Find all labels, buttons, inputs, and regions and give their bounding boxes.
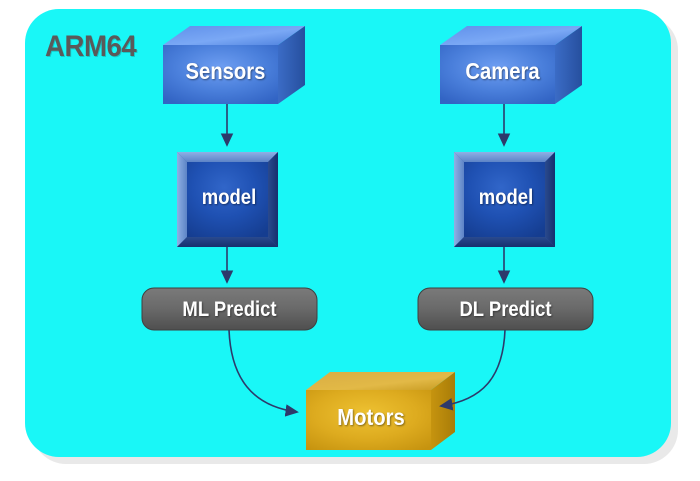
page-title: ARM64 [45,30,136,64]
arm64-panel [25,9,671,457]
diagram-canvas: ARM64 [0,0,700,481]
